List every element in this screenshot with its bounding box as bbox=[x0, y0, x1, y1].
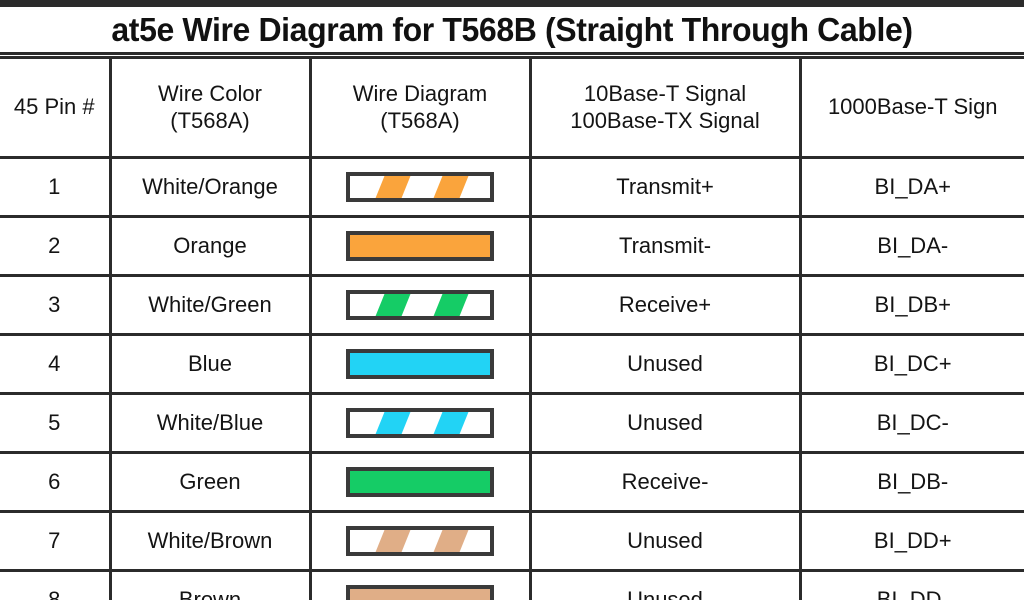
cell-signal-10base: Unused bbox=[530, 571, 800, 600]
column-header-signal-10base: 10Base-T Signal 100Base-TX Signal bbox=[530, 58, 800, 158]
wire-stripe bbox=[369, 408, 413, 438]
cell-signal-10base: Unused bbox=[530, 512, 800, 571]
column-header-signal-10base-line1: 10Base-T Signal bbox=[532, 81, 799, 108]
table-row: 5White/BlueUnusedBI_DC- bbox=[0, 394, 1024, 453]
column-header-pin-label: 45 Pin # bbox=[0, 94, 109, 121]
header-row: 45 Pin # Wire Color (T568A) Wire Diagram… bbox=[0, 58, 1024, 158]
wire-swatch bbox=[346, 290, 494, 320]
cell-signal-1000base: BI_DD- bbox=[800, 571, 1024, 600]
cell-wire-color: White/Orange bbox=[110, 158, 310, 217]
cell-wire-diagram bbox=[310, 571, 530, 600]
cell-signal-10base: Unused bbox=[530, 335, 800, 394]
cell-signal-1000base: BI_DC- bbox=[800, 394, 1024, 453]
wire-stripe bbox=[369, 172, 413, 202]
table-header: 45 Pin # Wire Color (T568A) Wire Diagram… bbox=[0, 58, 1024, 158]
cell-pin-number: 2 bbox=[0, 217, 110, 276]
cell-signal-10base: Receive+ bbox=[530, 276, 800, 335]
column-header-wire-diagram: Wire Diagram (T568A) bbox=[310, 58, 530, 158]
table-row: 6GreenReceive-BI_DB- bbox=[0, 453, 1024, 512]
column-header-signal-1000base: 1000Base-T Sign bbox=[800, 58, 1024, 158]
cell-signal-1000base: BI_DB- bbox=[800, 453, 1024, 512]
wire-stripe bbox=[427, 408, 471, 438]
wire-swatch bbox=[346, 585, 494, 600]
cell-signal-1000base: BI_DC+ bbox=[800, 335, 1024, 394]
cell-wire-diagram bbox=[310, 335, 530, 394]
cell-signal-1000base: BI_DB+ bbox=[800, 276, 1024, 335]
table-row: 2OrangeTransmit-BI_DA- bbox=[0, 217, 1024, 276]
cell-signal-1000base: BI_DD+ bbox=[800, 512, 1024, 571]
table-row: 4BlueUnusedBI_DC+ bbox=[0, 335, 1024, 394]
cell-signal-1000base: BI_DA+ bbox=[800, 158, 1024, 217]
cell-wire-color: Green bbox=[110, 453, 310, 512]
wire-swatch bbox=[346, 172, 494, 202]
cell-wire-color: White/Blue bbox=[110, 394, 310, 453]
wire-swatch bbox=[346, 408, 494, 438]
wire-swatch bbox=[346, 526, 494, 556]
cell-pin-number: 5 bbox=[0, 394, 110, 453]
cell-wire-diagram bbox=[310, 158, 530, 217]
cell-signal-1000base: BI_DA- bbox=[800, 217, 1024, 276]
cell-pin-number: 7 bbox=[0, 512, 110, 571]
wire-stripe bbox=[369, 526, 413, 556]
cell-pin-number: 1 bbox=[0, 158, 110, 217]
cell-signal-10base: Transmit+ bbox=[530, 158, 800, 217]
wire-swatch bbox=[346, 231, 494, 261]
table-row: 1White/OrangeTransmit+BI_DA+ bbox=[0, 158, 1024, 217]
table-row: 3White/GreenReceive+BI_DB+ bbox=[0, 276, 1024, 335]
table-row: 8BrownUnusedBI_DD- bbox=[0, 571, 1024, 600]
cell-pin-number: 4 bbox=[0, 335, 110, 394]
cell-wire-color: Blue bbox=[110, 335, 310, 394]
column-header-signal-10base-line2: 100Base-TX Signal bbox=[532, 108, 799, 135]
wire-diagram-table: 45 Pin # Wire Color (T568A) Wire Diagram… bbox=[0, 56, 1024, 600]
page-title: at5e Wire Diagram for T568B (Straight Th… bbox=[111, 13, 912, 46]
wire-stripe bbox=[427, 526, 471, 556]
wire-diagram-page: at5e Wire Diagram for T568B (Straight Th… bbox=[0, 0, 1024, 600]
cell-wire-diagram bbox=[310, 276, 530, 335]
column-header-wire-diagram-line2: (T568A) bbox=[312, 108, 529, 135]
column-header-signal-1000base-label: 1000Base-T Sign bbox=[802, 94, 1024, 121]
cell-signal-10base: Transmit- bbox=[530, 217, 800, 276]
wire-swatch bbox=[346, 349, 494, 379]
table-row: 7White/BrownUnusedBI_DD+ bbox=[0, 512, 1024, 571]
column-header-wire-color-line2: (T568A) bbox=[112, 108, 309, 135]
cell-signal-10base: Unused bbox=[530, 394, 800, 453]
cell-pin-number: 8 bbox=[0, 571, 110, 600]
cell-signal-10base: Receive- bbox=[530, 453, 800, 512]
table-body: 1White/OrangeTransmit+BI_DA+2OrangeTrans… bbox=[0, 158, 1024, 600]
cell-wire-color: Brown bbox=[110, 571, 310, 600]
cell-wire-diagram bbox=[310, 394, 530, 453]
cell-wire-color: White/Green bbox=[110, 276, 310, 335]
cell-wire-diagram bbox=[310, 512, 530, 571]
column-header-pin: 45 Pin # bbox=[0, 58, 110, 158]
wire-swatch bbox=[346, 467, 494, 497]
wire-stripe bbox=[427, 290, 471, 320]
cell-pin-number: 3 bbox=[0, 276, 110, 335]
column-header-wire-color: Wire Color (T568A) bbox=[110, 58, 310, 158]
cell-wire-diagram bbox=[310, 217, 530, 276]
cell-pin-number: 6 bbox=[0, 453, 110, 512]
title-banner: at5e Wire Diagram for T568B (Straight Th… bbox=[0, 5, 1024, 55]
wire-stripe bbox=[427, 172, 471, 202]
column-header-wire-diagram-line1: Wire Diagram bbox=[312, 81, 529, 108]
cell-wire-color: Orange bbox=[110, 217, 310, 276]
wire-stripe bbox=[369, 290, 413, 320]
column-header-wire-color-line1: Wire Color bbox=[112, 81, 309, 108]
cell-wire-color: White/Brown bbox=[110, 512, 310, 571]
cell-wire-diagram bbox=[310, 453, 530, 512]
